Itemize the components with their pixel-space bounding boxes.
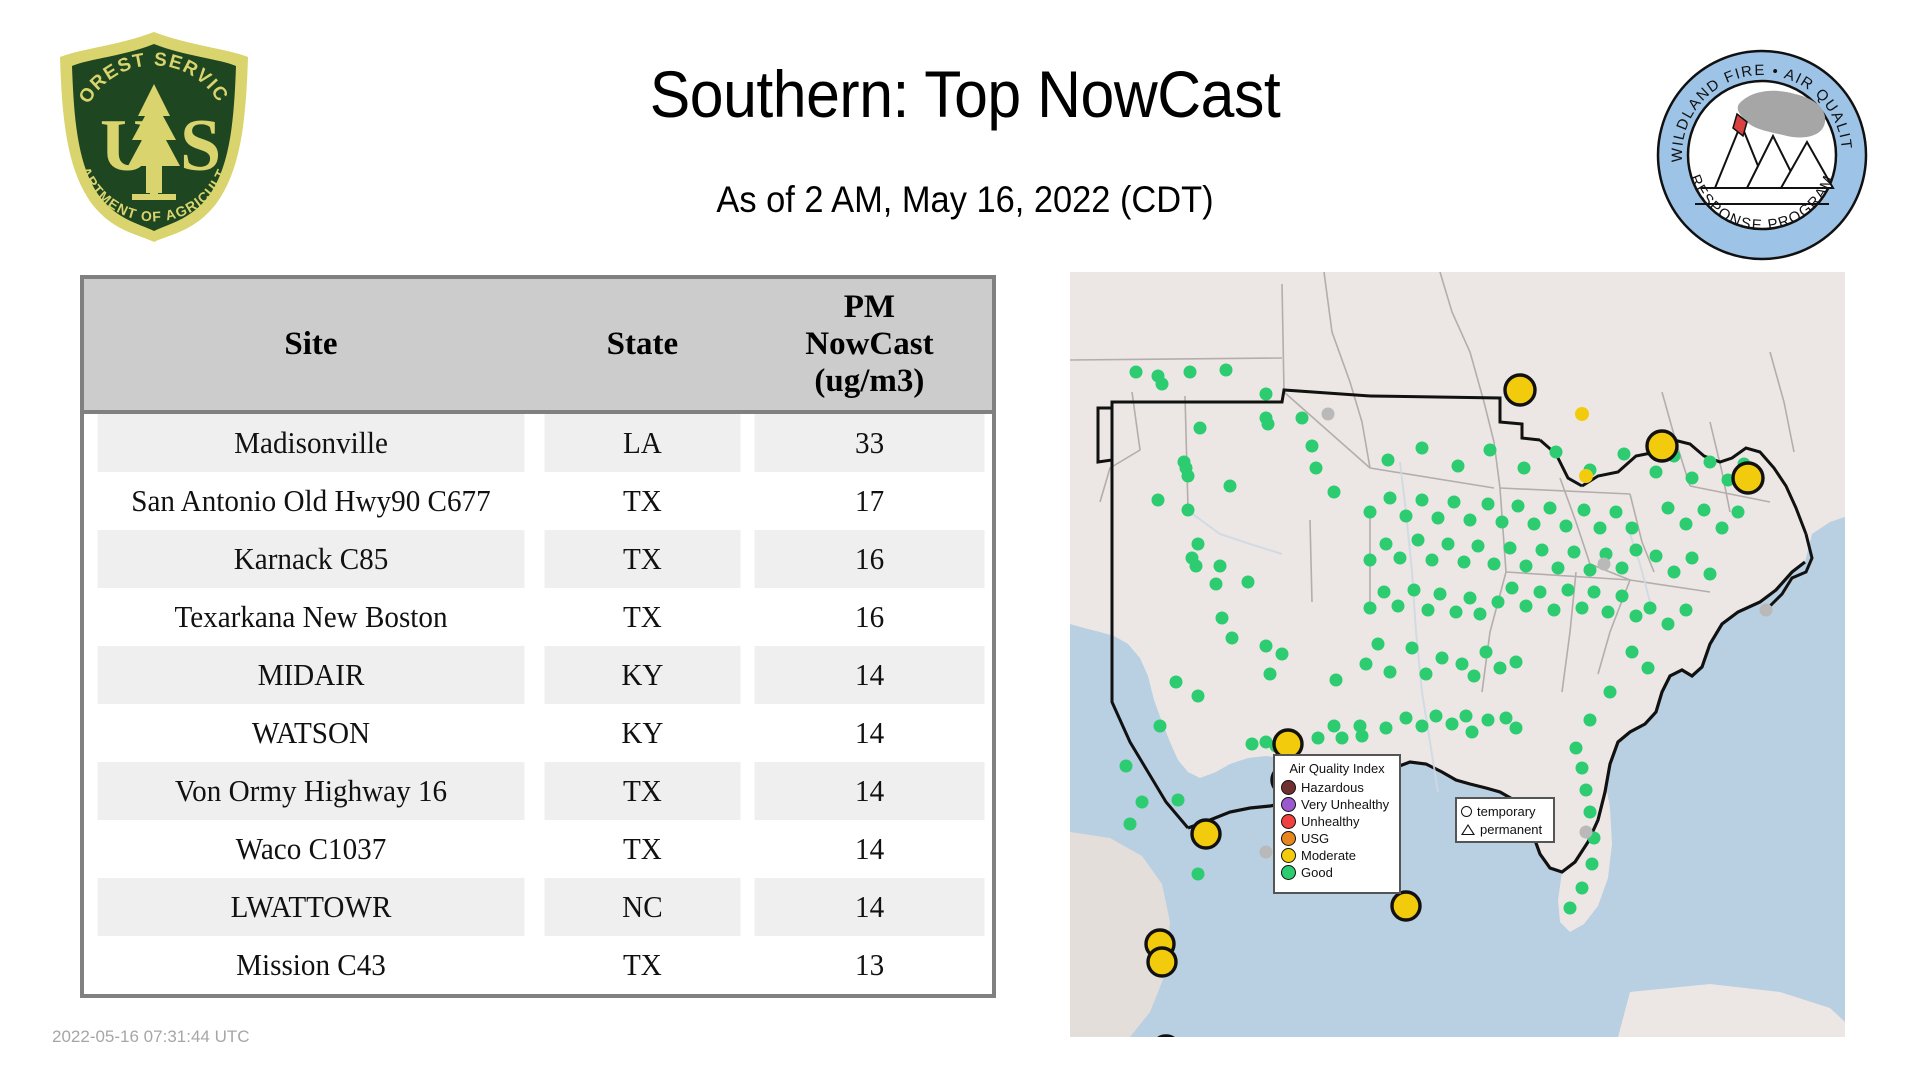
cell-state: TX xyxy=(544,588,740,646)
table-row: MadisonvilleLA33 xyxy=(84,412,992,472)
cell-state: TX xyxy=(544,530,740,588)
permanent-sensor-label: permanent xyxy=(1480,822,1542,837)
table-row: Von Ormy Highway 16TX14 xyxy=(84,762,992,820)
cell-site: Texarkana New Boston xyxy=(98,588,525,646)
aqi-legend-label: Hazardous xyxy=(1301,780,1364,795)
cell-value: 14 xyxy=(754,762,984,820)
cell-state: LA xyxy=(544,412,740,472)
cell-value: 16 xyxy=(754,530,984,588)
cell-value: 33 xyxy=(754,412,984,472)
aqi-swatch-icon xyxy=(1281,780,1296,795)
cell-state: TX xyxy=(544,936,740,994)
table-header: Site State PM NowCast (ug/m3) xyxy=(84,279,992,412)
generated-timestamp: 2022-05-16 07:31:44 UTC xyxy=(52,1027,250,1047)
air-quality-map[interactable]: Air Quality Index HazardousVery Unhealth… xyxy=(1070,272,1845,1037)
cell-site: Waco C1037 xyxy=(98,820,525,878)
cell-value: 14 xyxy=(754,820,984,878)
aqi-swatch-icon xyxy=(1281,848,1296,863)
column-header-line-2: NowCast xyxy=(751,326,988,363)
cell-site: Madisonville xyxy=(98,412,525,472)
table-row: Texarkana New BostonTX16 xyxy=(84,588,992,646)
aqi-legend-label: Unhealthy xyxy=(1301,814,1360,829)
cell-state: KY xyxy=(544,704,740,762)
aqi-swatch-icon xyxy=(1281,814,1296,829)
cell-value: 17 xyxy=(754,472,984,530)
aqi-legend: Air Quality Index HazardousVery Unhealth… xyxy=(1273,754,1401,894)
column-header-site: Site xyxy=(84,279,538,412)
cell-site: Von Ormy Highway 16 xyxy=(98,762,525,820)
aqi-legend-row: Unhealthy xyxy=(1281,813,1393,830)
table-row: WATSONKY14 xyxy=(84,704,992,762)
wfaqrp-logo: WILDLAND FIRE • AIR QUALITY RESPONSE PRO… xyxy=(1655,48,1870,263)
table-body: MadisonvilleLA33San Antonio Old Hwy90 C6… xyxy=(84,412,992,994)
cell-site: MIDAIR xyxy=(98,646,525,704)
cell-state: TX xyxy=(544,472,740,530)
sensor-legend-row-temporary: temporary xyxy=(1461,802,1549,820)
aqi-legend-label: Good xyxy=(1301,865,1333,880)
table-row: San Antonio Old Hwy90 C677TX17 xyxy=(84,472,992,530)
cell-state: TX xyxy=(544,820,740,878)
cell-site: LWATTOWR xyxy=(98,878,525,936)
cell-value: 14 xyxy=(754,646,984,704)
permanent-sensor-icon xyxy=(1461,824,1475,835)
column-header-pm-nowcast: PM NowCast (ug/m3) xyxy=(747,279,992,412)
cell-state: NC xyxy=(544,878,740,936)
us-forest-service-logo: FOREST SERVICE U S DEPARTMENT OF AGRICUL… xyxy=(52,28,257,243)
cell-state: KY xyxy=(544,646,740,704)
cell-value: 14 xyxy=(754,878,984,936)
sensor-legend-row-permanent: permanent xyxy=(1461,820,1549,838)
page-title: Southern: Top NowCast xyxy=(353,55,1577,133)
column-header-line-1: PM xyxy=(751,289,988,326)
cell-site: WATSON xyxy=(98,704,525,762)
cell-value: 14 xyxy=(754,704,984,762)
nowcast-table-container: Site State PM NowCast (ug/m3) Madisonvil… xyxy=(80,275,996,998)
column-header-state: State xyxy=(538,279,747,412)
table-row: Waco C1037TX14 xyxy=(84,820,992,878)
aqi-legend-label: USG xyxy=(1301,831,1329,846)
cell-site: San Antonio Old Hwy90 C677 xyxy=(98,472,525,530)
map-svg xyxy=(1070,272,1845,1037)
table-row: LWATTOWRNC14 xyxy=(84,878,992,936)
cell-state: TX xyxy=(544,762,740,820)
aqi-legend-label: Moderate xyxy=(1301,848,1356,863)
table-row: Mission C43TX13 xyxy=(84,936,992,994)
aqi-legend-row: Hazardous xyxy=(1281,779,1393,796)
cell-site: Mission C43 xyxy=(98,936,525,994)
aqi-legend-label: Very Unhealthy xyxy=(1301,797,1389,812)
aqi-legend-rows: HazardousVery UnhealthyUnhealthyUSGModer… xyxy=(1281,779,1393,881)
aqi-swatch-icon xyxy=(1281,831,1296,846)
aqi-swatch-icon xyxy=(1281,797,1296,812)
sensor-type-legend: temporary permanent xyxy=(1455,797,1555,843)
aqi-legend-row: USG xyxy=(1281,830,1393,847)
page-subtitle: As of 2 AM, May 16, 2022 (CDT) xyxy=(347,178,1584,222)
aqi-swatch-icon xyxy=(1281,865,1296,880)
aqi-legend-row: Moderate xyxy=(1281,847,1393,864)
table-row: MIDAIRKY14 xyxy=(84,646,992,704)
aqi-legend-row: Good xyxy=(1281,864,1393,881)
temporary-sensor-label: temporary xyxy=(1477,804,1536,819)
temporary-sensor-icon xyxy=(1461,806,1472,817)
table-header-row: Site State PM NowCast (ug/m3) xyxy=(84,279,992,412)
cell-value: 13 xyxy=(754,936,984,994)
cell-site: Karnack C85 xyxy=(98,530,525,588)
table-row: Karnack C85TX16 xyxy=(84,530,992,588)
column-header-line-3: (ug/m3) xyxy=(751,363,988,400)
aqi-legend-title: Air Quality Index xyxy=(1281,761,1393,776)
cell-value: 16 xyxy=(754,588,984,646)
aqi-legend-row: Very Unhealthy xyxy=(1281,796,1393,813)
nowcast-table: Site State PM NowCast (ug/m3) Madisonvil… xyxy=(84,279,992,994)
